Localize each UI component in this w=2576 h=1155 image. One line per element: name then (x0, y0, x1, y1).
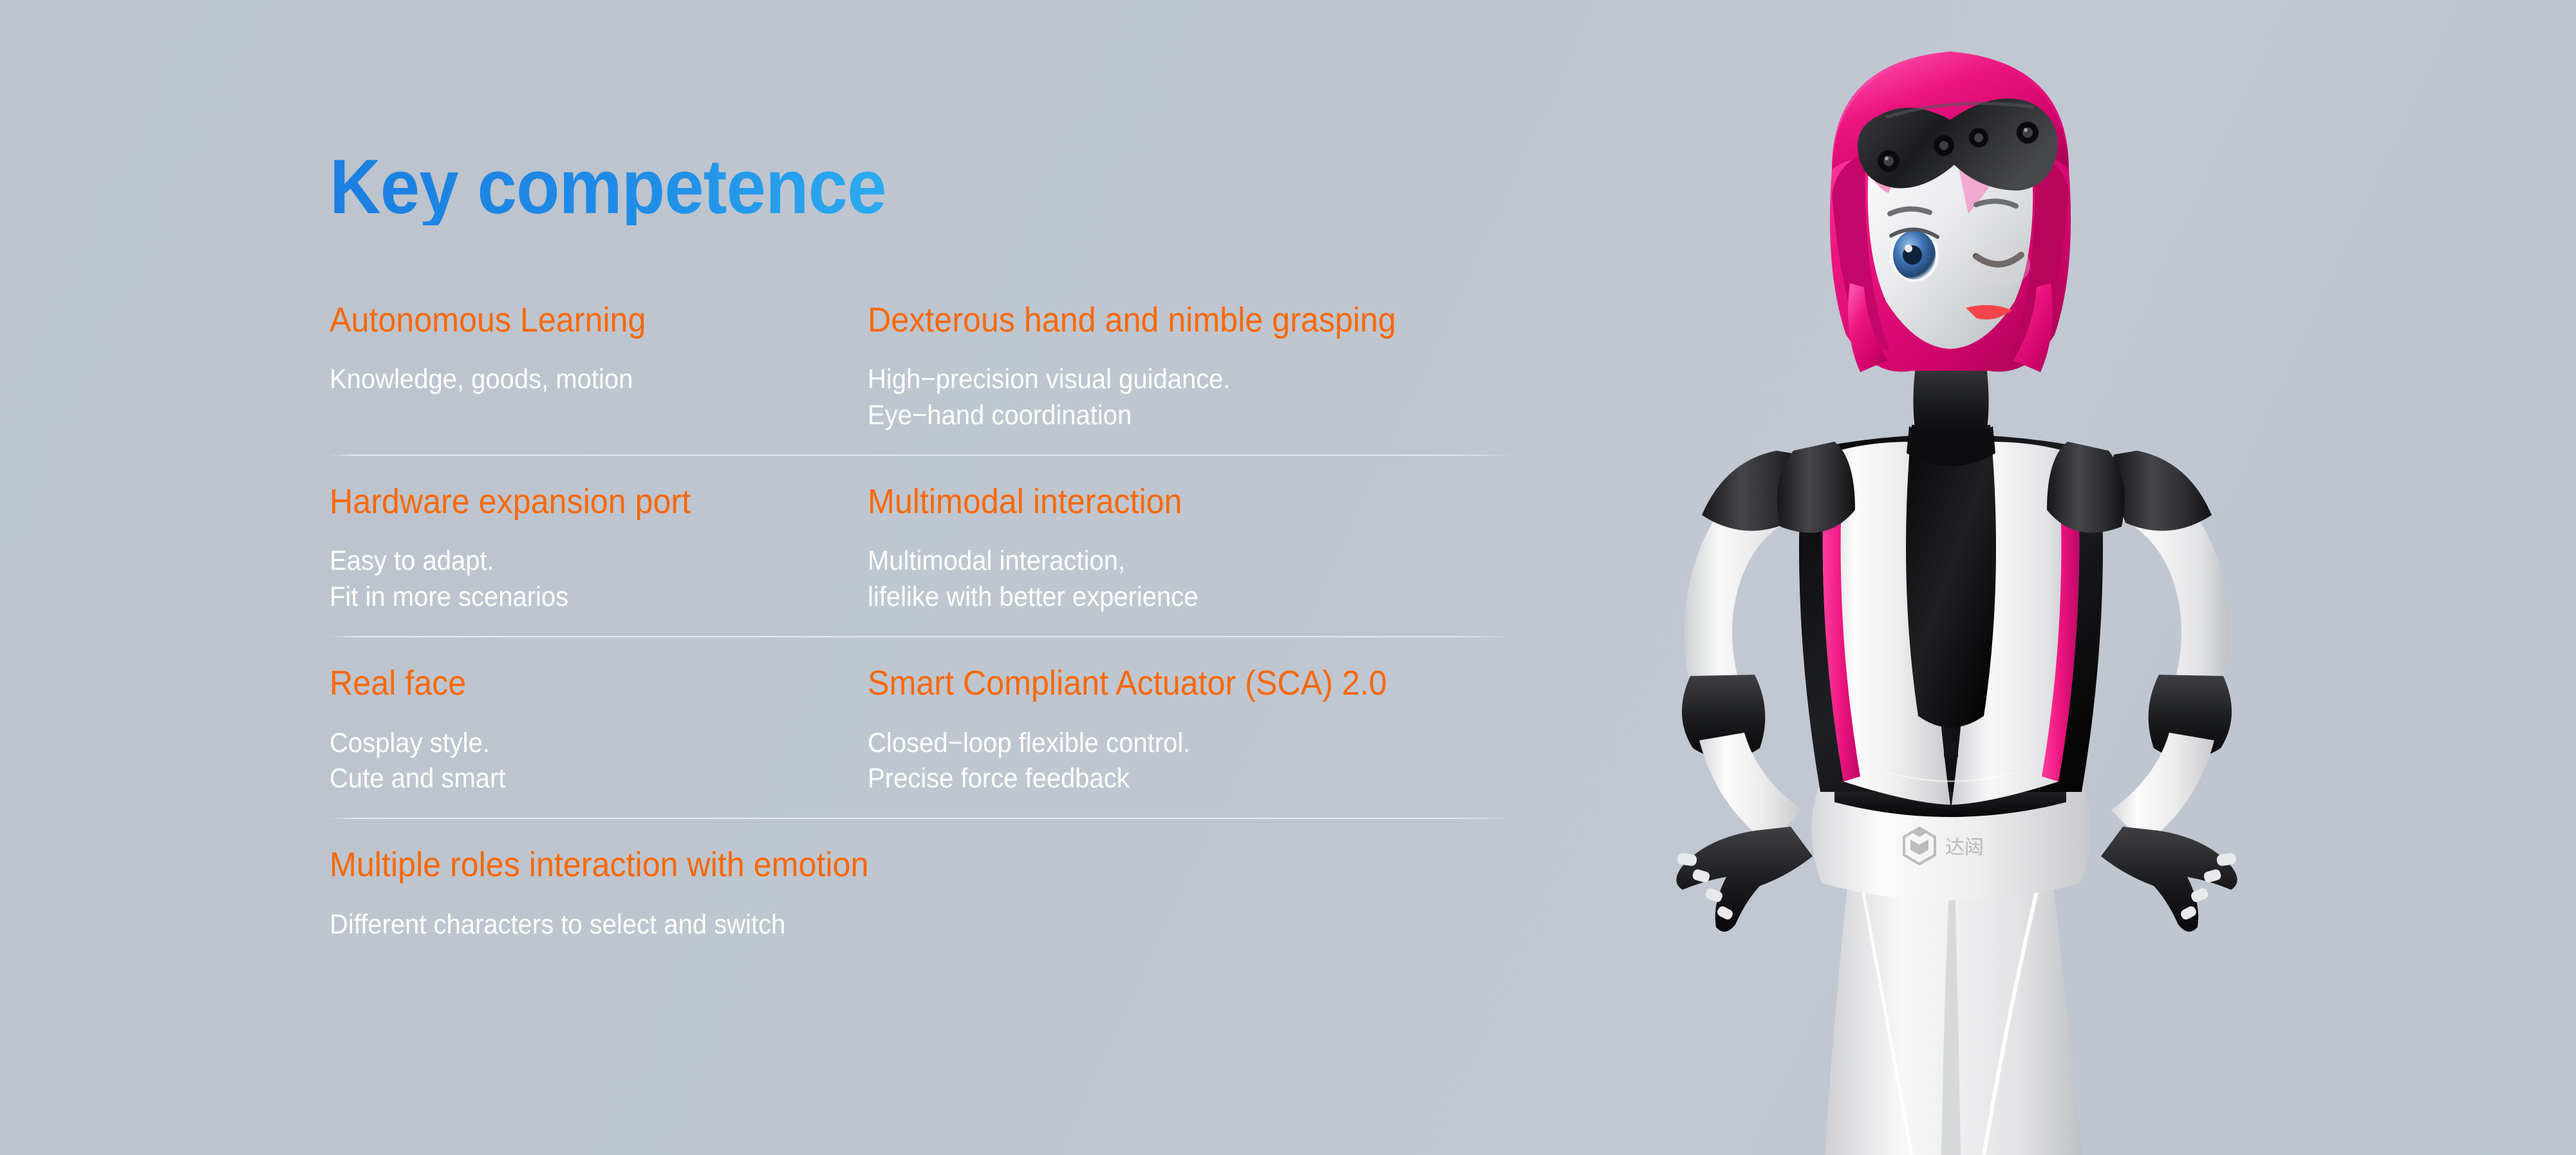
feature-item-multimodal-interaction: Multimodal interaction Multimodal intera… (868, 483, 1511, 615)
feature-heading: Hardware expansion port (330, 483, 830, 520)
feature-body: High−precision visual guidance. Eye−hand… (868, 362, 1466, 434)
feature-row-4: Multiple roles interaction with emotion … (330, 819, 1514, 964)
feature-grid: Autonomous Learning Knowledge, goods, mo… (330, 301, 1514, 964)
feature-heading: Autonomous Learning (330, 301, 830, 339)
robot-neck (1907, 355, 1995, 466)
feature-body: Closed−loop flexible control. Precise fo… (868, 726, 1466, 798)
robot-figure: 达闼 (1500, 0, 2576, 1155)
feature-item-autonomous-learning: Autonomous Learning Knowledge, goods, mo… (330, 301, 868, 434)
feature-body: Easy to adapt. Fit in more scenarios (330, 543, 830, 615)
feature-heading: Real face (330, 664, 830, 702)
content-column: Key competence Autonomous Learning Knowl… (330, 148, 1514, 964)
feature-row-3: Real face Cosplay style. Cute and smart … (330, 637, 1514, 819)
robot-legs (1825, 856, 2082, 1155)
feature-heading: Multiple roles interaction with emotion (330, 846, 1347, 883)
slide-canvas: Key competence Autonomous Learning Knowl… (0, 0, 2576, 1155)
feature-body: Different characters to select and switc… (330, 907, 1347, 943)
feature-item-multiple-roles: Multiple roles interaction with emotion … (330, 846, 1424, 943)
feature-heading: Dexterous hand and nimble grasping (868, 301, 1466, 339)
feature-body: Knowledge, goods, motion (330, 362, 830, 398)
page-title: Key competence (330, 148, 1419, 225)
feature-heading: Smart Compliant Actuator (SCA) 2.0 (868, 664, 1466, 702)
feature-heading: Multimodal interaction (868, 483, 1466, 520)
feature-body: Cosplay style. Cute and smart (330, 726, 830, 798)
feature-row-1: Autonomous Learning Knowledge, goods, mo… (330, 301, 1514, 456)
robot-illustration: 达闼 (1500, 0, 2576, 1155)
feature-row-2: Hardware expansion port Easy to adapt. F… (330, 456, 1514, 637)
robot-head (1830, 52, 2071, 372)
feature-item-hardware-expansion-port: Hardware expansion port Easy to adapt. F… (330, 483, 868, 615)
feature-item-dexterous-hand: Dexterous hand and nimble grasping High−… (868, 301, 1511, 434)
feature-body: Multimodal interaction, lifelike with be… (868, 543, 1466, 615)
brand-text: 达闼 (1945, 836, 1984, 859)
feature-item-real-face: Real face Cosplay style. Cute and smart (330, 664, 868, 797)
feature-item-smart-compliant-actuator: Smart Compliant Actuator (SCA) 2.0 Close… (868, 664, 1511, 797)
